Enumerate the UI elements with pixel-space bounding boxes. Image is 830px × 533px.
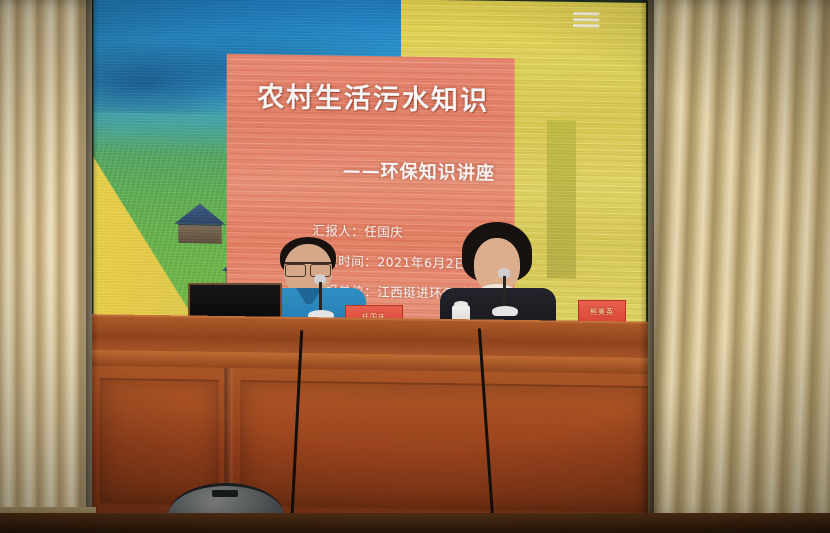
cabin-roof xyxy=(174,203,225,225)
cabin-body xyxy=(178,224,222,244)
hamburger-icon[interactable] xyxy=(573,12,599,27)
right-curtain xyxy=(648,0,830,520)
slide-subtitle: ——环保知识讲座 xyxy=(343,157,495,186)
floor xyxy=(0,513,830,533)
microphone-stand xyxy=(503,276,506,306)
left-curtain xyxy=(0,0,92,533)
podium xyxy=(86,314,666,533)
conference-photo-scene: 农村生活污水知识 ——环保知识讲座 汇报人：任国庆 汇报时间：2021年6月2日… xyxy=(0,0,830,533)
cabin-illustration xyxy=(174,203,225,244)
hamburger-line xyxy=(573,12,599,15)
speaker-handle xyxy=(212,490,238,497)
microphone-stand xyxy=(319,282,322,310)
hamburger-line xyxy=(573,24,599,27)
slide-title: 农村生活污水知识 xyxy=(257,75,489,118)
hamburger-line xyxy=(573,18,599,21)
podium-panel xyxy=(240,380,649,515)
glasses-icon xyxy=(284,262,332,273)
microphone-base xyxy=(492,306,518,316)
